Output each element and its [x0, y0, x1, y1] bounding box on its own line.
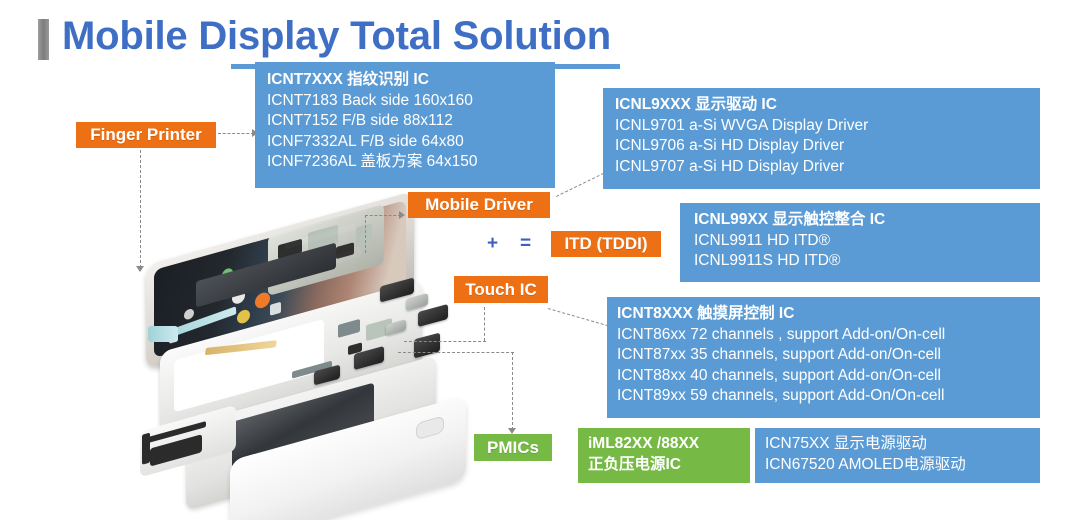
display-driver-ic-line-3: ICNL9707 a-Si HD Display Driver: [615, 157, 1030, 178]
tag-pmics-label: PMICs: [487, 438, 539, 458]
tag-finger-printer[interactable]: Finger Printer: [76, 122, 216, 148]
touch-controller-ic-line-4: ICNT89xx 59 channels, support Add-On/On-…: [617, 386, 1032, 407]
touch-controller-ic-line-3: ICNT88xx 40 channels, support Add-on/On-…: [617, 366, 1032, 387]
pmic-green-box: iML82XX /88XX 正负压电源IC: [578, 428, 750, 483]
page-title: Mobile Display Total Solution: [62, 14, 611, 59]
fingerprint-ic-line-3: ICNF7332AL F/B side 64x80: [267, 132, 545, 153]
touch-controller-ic-box: ICNT8XXX 触摸屏控制 IC ICNT86xx 72 channels ,…: [607, 297, 1040, 418]
tddi-ic-box: ICNL99XX 显示触控整合 IC ICNL9911 HD ITD® ICNL…: [680, 203, 1040, 282]
pmic-blue-box: ICN75XX 显示电源驱动 ICN67520 AMOLED电源驱动: [755, 428, 1040, 483]
display-driver-ic-header: ICNL9XXX 显示驱动 IC: [615, 95, 1030, 116]
tag-pmics[interactable]: PMICs: [474, 434, 552, 461]
fingerprint-ic-line-4: ICNF7236AL 盖板方案 64x150: [267, 152, 545, 173]
tag-touch-ic-label: Touch IC: [465, 280, 536, 300]
plus-operator: +: [487, 233, 498, 255]
tag-finger-printer-label: Finger Printer: [90, 125, 201, 145]
title-accent-bar: [38, 19, 49, 60]
fingerprint-ic-line-1: ICNT7183 Back side 160x160: [267, 91, 545, 112]
tag-itd-tddi[interactable]: ITD (TDDI): [551, 231, 661, 257]
tddi-ic-header: ICNL99XX 显示触控整合 IC: [694, 210, 1030, 231]
pmic-green-line-2: 正负压电源IC: [588, 455, 742, 476]
fingerprint-ic-line-2: ICNT7152 F/B side 88x112: [267, 111, 545, 132]
display-driver-ic-line-2: ICNL9706 a-Si HD Display Driver: [615, 136, 1030, 157]
pmic-blue-line-1: ICN75XX 显示电源驱动: [765, 434, 1032, 455]
touch-controller-ic-line-1: ICNT86xx 72 channels , support Add-on/On…: [617, 325, 1032, 346]
display-driver-ic-line-1: ICNL9701 a-Si WVGA Display Driver: [615, 116, 1030, 137]
fingerprint-ic-box: ICNT7XXX 指纹识别 IC ICNT7183 Back side 160x…: [255, 62, 555, 188]
equals-operator: =: [520, 233, 531, 255]
slide-canvas: Mobile Display Total Solution: [0, 0, 1080, 520]
tag-mobile-driver[interactable]: Mobile Driver: [408, 192, 550, 218]
tddi-ic-line-1: ICNL9911 HD ITD®: [694, 231, 1030, 252]
display-driver-ic-box: ICNL9XXX 显示驱动 IC ICNL9701 a-Si WVGA Disp…: [603, 88, 1040, 189]
tag-mobile-driver-label: Mobile Driver: [425, 195, 533, 215]
touch-controller-ic-line-2: ICNT87xx 35 channels, support Add-on/On-…: [617, 345, 1032, 366]
tddi-ic-line-2: ICNL9911S HD ITD®: [694, 251, 1030, 272]
exploded-smartphone-image: [118, 222, 478, 520]
tag-itd-tddi-label: ITD (TDDI): [564, 234, 647, 254]
touch-controller-ic-header: ICNT8XXX 触摸屏控制 IC: [617, 304, 1032, 325]
pmic-green-line-1: iML82XX /88XX: [588, 434, 742, 455]
fingerprint-ic-header: ICNT7XXX 指纹识别 IC: [267, 70, 545, 91]
pmic-blue-line-2: ICN67520 AMOLED电源驱动: [765, 455, 1032, 476]
tag-touch-ic[interactable]: Touch IC: [454, 276, 548, 303]
